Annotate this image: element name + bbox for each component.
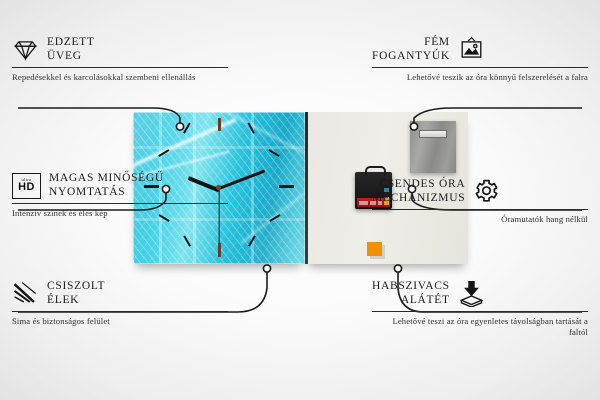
feature-polished-edges[interactable]: CSISZOLTÉLEK Sima és biztonságos felület: [12, 280, 228, 327]
ultra-hd-badge-icon: ultra HD: [12, 173, 41, 199]
foam-pad: [367, 242, 382, 256]
feature-divider: [12, 311, 228, 312]
feature-divider: [372, 67, 588, 68]
press-down-pad-icon: [458, 280, 485, 307]
clock-tick-6: [218, 243, 221, 257]
feature-divider: [372, 311, 588, 312]
feature-header: CSISZOLTÉLEK: [12, 280, 228, 307]
feature-metal-handles[interactable]: FÉMFOGANTYÚK Lehetővé teszik az óra könn…: [372, 36, 588, 83]
feature-title: FÉMFOGANTYÚK: [372, 36, 450, 63]
clock-tick-5: [248, 235, 256, 247]
diagonal-lines-icon: [12, 280, 39, 307]
feature-header: EDZETTÜVEG: [12, 36, 228, 63]
feature-description: Intenzív színek és éles kép: [12, 208, 228, 219]
metal-hanger-plate: [410, 121, 456, 173]
mechanism-hanging-loop: [365, 166, 386, 176]
feature-divider: [12, 203, 228, 204]
feature-title: CSISZOLTÉLEK: [47, 280, 105, 307]
feature-silent-mechanism[interactable]: CSENDES ÓRAMECHANIZMUS Óramutatók hang n…: [372, 178, 588, 225]
feature-header: FÉMFOGANTYÚK: [372, 36, 588, 63]
feature-description: Óramutatók hang nélkül: [372, 214, 588, 225]
feature-title: HABSZIVACSALÁTÉT: [372, 280, 450, 307]
feature-description: Lehetővé teszik az óra könnyű felszerelé…: [372, 72, 588, 83]
feature-title: MAGAS MINŐSÉGŰNYOMTATÁS: [49, 172, 164, 199]
hanger-slot: [419, 130, 447, 138]
feature-title: CSENDES ÓRAMECHANIZMUS: [372, 178, 465, 205]
feature-high-quality-print[interactable]: ultra HD MAGAS MINŐSÉGŰNYOMTATÁS Intenzí…: [12, 172, 228, 219]
feature-foam-pad[interactable]: HABSZIVACSALÁTÉT Lehetővé teszi az óra e…: [372, 280, 588, 337]
framed-picture-icon: [458, 36, 485, 63]
clock-tick-1: [247, 122, 255, 134]
feature-header: HABSZIVACSALÁTÉT: [372, 280, 588, 307]
feature-description: Repedésekkel és karcolásokkal szembeni e…: [12, 72, 228, 83]
feature-description: Lehetővé teszi az óra egyenletes távolsá…: [372, 316, 588, 337]
diamond-icon: [12, 36, 39, 63]
clock-tick-10: [158, 149, 170, 157]
clock-tick-4: [269, 214, 281, 222]
feature-header: ultra HD MAGAS MINŐSÉGŰNYOMTATÁS: [12, 172, 228, 199]
clock-tick-3: [279, 185, 294, 188]
feature-title: EDZETTÜVEG: [47, 36, 95, 63]
clock-tick-12: [218, 118, 221, 131]
feature-header: CSENDES ÓRAMECHANIZMUS: [372, 178, 588, 205]
feature-description: Sima és biztonságos felület: [12, 316, 228, 327]
clock-tick-2: [268, 149, 280, 157]
badge-hd-label: HD: [18, 182, 35, 193]
feature-tempered-glass[interactable]: EDZETTÜVEG Repedésekkel és karcolásokkal…: [12, 36, 228, 83]
feature-divider: [12, 67, 228, 68]
clock-tick-11: [183, 122, 191, 134]
feature-divider: [372, 209, 588, 210]
infographic-canvas: EDZETTÜVEG Repedésekkel és karcolásokkal…: [0, 0, 600, 400]
clock-tick-7: [183, 235, 191, 247]
gear-icon: [473, 178, 500, 205]
